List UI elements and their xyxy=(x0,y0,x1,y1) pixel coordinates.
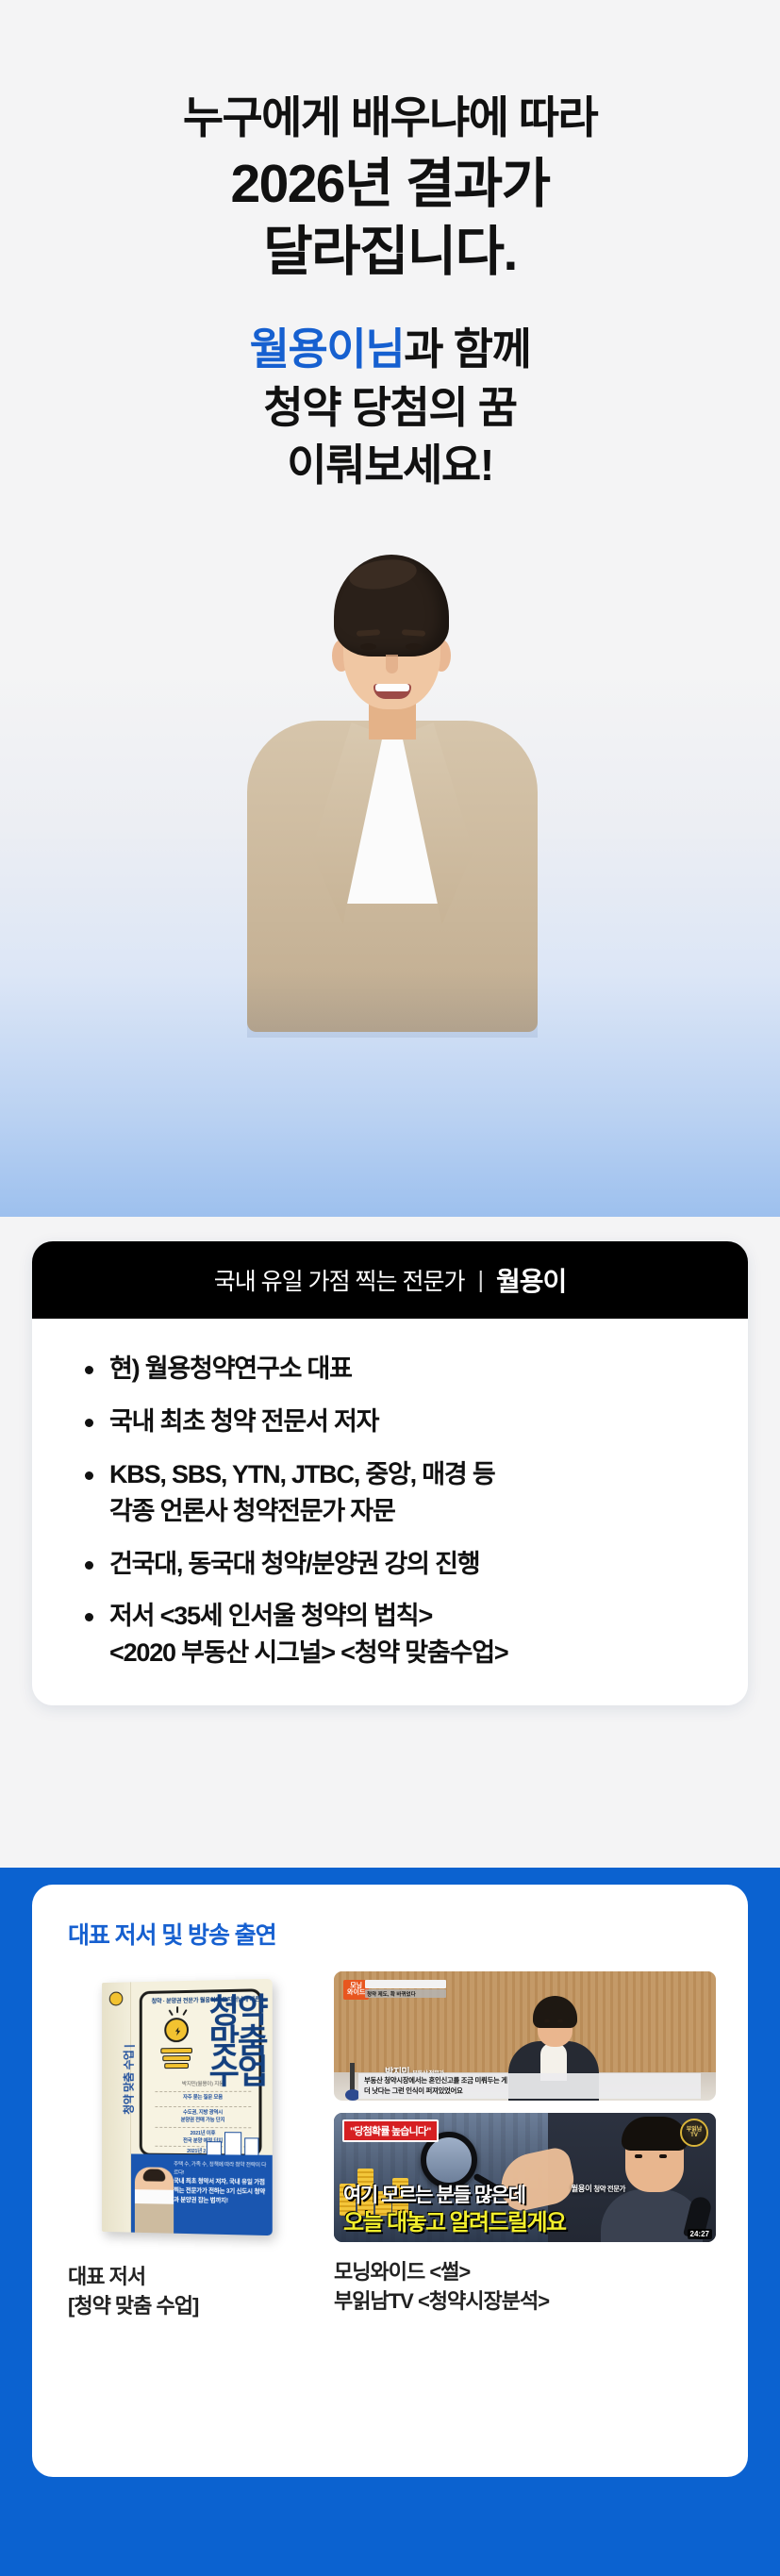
video-caption-line-1: 모닝와이드 <썰> xyxy=(334,2257,716,2286)
portrait-nose xyxy=(386,655,398,673)
credential-text: 건국대, 동국대 청약/분양권 강의 진행 xyxy=(109,1550,479,1578)
video-thumbnail-morning-wide[interactable]: 모닝 와이드 청약 제도, 확 바뀌었다 박지민부동산 전문가 부동산 청약시 xyxy=(334,1971,716,2101)
video1-eye-left xyxy=(544,2019,550,2022)
instructor-name-accent: 월용이님 xyxy=(250,324,405,374)
list-item: 건국대, 동국대 청약/분양권 강의 진행 xyxy=(85,1546,748,1583)
lightbulb-icon xyxy=(164,2018,189,2042)
instructor-profile-card: 국내 유일 가점 찍는 전문가 | 월용이 현) 월용청약연구소 대표 국내 최… xyxy=(32,1241,748,1705)
video2-speaker-role: 청약 전문가 xyxy=(593,2185,625,2193)
book-cover-image: 청약 맞춤 수업 | 청약 · 분양권 전문가 월용이의 토지서남에 따른 박지… xyxy=(68,1971,311,2247)
list-item: KBS, SBS, YTN, JTBC, 중앙, 매경 등 각종 언론사 청약전… xyxy=(85,1456,748,1530)
book-cover-band: 주택 수, 가족 수, 정책에 따라 청약 전략이 다르다! 국내 최초 청약서… xyxy=(131,2153,273,2235)
video1-headline-bar-text: 청약 제도, 확 바뀌었다 xyxy=(365,1989,446,1998)
book-caption-line-1: 대표 저서 xyxy=(68,2262,311,2291)
profile-header-prefix: 국내 유일 가점 찍는 전문가 xyxy=(214,1263,465,1297)
media-card-title: 대표 저서 및 방송 출연 xyxy=(68,1917,712,1951)
credential-text: KBS, SBS, YTN, JTBC, 중앙, 매경 등 xyxy=(109,1460,494,1488)
video-caption: 모닝와이드 <썰> 부읽남TV <청약시장분석> xyxy=(334,2257,716,2316)
video1-eye-right xyxy=(557,2019,563,2022)
video-caption-line-2: 부읽남TV <청약시장분석> xyxy=(334,2286,716,2316)
subheadline-line-1: 월용이님과 함께 xyxy=(0,321,780,379)
video1-subtitle-line-2: 더 낫다는 그런 인식이 퍼져있었어요 xyxy=(364,2086,695,2096)
page-subheadline: 월용이님과 함께 청약 당첨의 꿈 이뤄보세요! xyxy=(0,321,780,495)
video2-title-yellow: 오늘 대놓고 알려드릴게요 xyxy=(343,2203,565,2236)
profile-card-header: 국내 유일 가점 찍는 전문가 | 월용이 xyxy=(32,1241,748,1319)
divider xyxy=(155,2106,251,2107)
headline-line-2: 2026년 결과가 xyxy=(0,152,780,218)
book-author-photo xyxy=(135,2167,174,2233)
bulb-ray-icon xyxy=(176,2006,178,2013)
video1-subtitle: 부동산 청약시장에서는 혼인신고를 조금 미뤄두는 게 더 낫다는 그런 인식이… xyxy=(358,2073,701,2099)
video-thumbnail-builknam-tv[interactable]: "당첨확률 높습니다" 월용이 청약 전문가 여기 모르는 분들 많은데 오늘 … xyxy=(334,2113,716,2242)
credential-text-continued: 각종 언론사 청약전문가 자문 xyxy=(109,1493,748,1530)
credential-text: 현) 월용청약연구소 대표 xyxy=(109,1354,352,1383)
book-band-small: 주택 수, 가족 수, 정책에 따라 청약 전략이 다르다! xyxy=(174,2161,269,2179)
book-band-text: 주택 수, 가족 수, 정책에 따라 청약 전략이 다르다! 국내 최초 청약서… xyxy=(174,2161,269,2207)
profile-card-body: 현) 월용청약연구소 대표 국내 최초 청약 전문서 저자 KBS, SBS, … xyxy=(32,1319,748,1705)
portrait-eye-left xyxy=(360,643,376,650)
video2-duration-badge: 24:27 xyxy=(688,2229,712,2239)
video2-red-banner: "당첨확률 높습니다" xyxy=(342,2119,439,2142)
credential-text: 저서 <35세 인서울 청약의 법칙> xyxy=(109,1602,432,1630)
video2-speaker-hair xyxy=(622,2117,688,2151)
portrait-hair xyxy=(334,555,449,656)
book-cover-item: 수도권, 지방 광역시 분양권 전매 가능 단지 xyxy=(142,2110,265,2125)
list-item: 현) 월용청약연구소 대표 xyxy=(85,1351,748,1388)
profile-header-name: 월용이 xyxy=(496,1261,566,1299)
builknam-tv-logo-icon: 부읽남 TV xyxy=(680,2119,708,2147)
book-caption: 대표 저서 [청약 맞춤 수업] xyxy=(68,2262,311,2320)
book-cover-item: 자주 묻는 질문 모음 xyxy=(142,2095,265,2102)
logo-line-2: TV xyxy=(690,2133,698,2138)
credential-text-continued: <2020 부동산 시그널> <청약 맞춤수업> xyxy=(109,1635,748,1671)
divider xyxy=(155,2091,251,2092)
headline-line-3: 달라집니다. xyxy=(0,220,780,286)
video2-eye-left xyxy=(635,2154,642,2158)
credentials-list: 현) 월용청약연구소 대표 국내 최초 청약 전문서 저자 KBS, SBS, … xyxy=(32,1351,748,1671)
media-appearances-card: 대표 저서 및 방송 출연 청약 맞춤 수업 | 청약 · 분양권 전문가 월용… xyxy=(32,1885,748,2477)
video1-headline-bar-bg xyxy=(365,1980,446,1988)
subheadline-line-3: 이뤄보세요! xyxy=(0,437,780,495)
credential-text: 국내 최초 청약 전문서 저자 xyxy=(109,1407,378,1436)
portrait-shadow xyxy=(247,972,538,1038)
list-item: 저서 <35세 인서울 청약의 법칙> <2020 부동산 시그널> <청약 맞… xyxy=(85,1598,748,1671)
subheadline-line-1-rest: 과 함께 xyxy=(404,324,530,374)
book-cover-title: 청약 맞춤 수업 xyxy=(209,1996,267,2088)
profile-header-divider: | xyxy=(478,1267,484,1294)
video1-hair xyxy=(533,1996,577,2028)
portrait-eye-right xyxy=(406,643,422,650)
video2-speaker-label: 월용이 청약 전문가 xyxy=(571,2183,625,2194)
video2-speaker-name: 월용이 xyxy=(571,2184,591,2193)
coins-stack-icon xyxy=(160,2048,194,2072)
instructor-portrait-image xyxy=(0,528,780,1217)
media-grid: 청약 맞춤 수업 | 청약 · 분양권 전문가 월용이의 토지서남에 따른 박지… xyxy=(68,1971,712,2320)
video-column: 모닝 와이드 청약 제도, 확 바뀌었다 박지민부동산 전문가 부동산 청약시 xyxy=(334,1971,716,2320)
hero-section: 누구에게 배우냐에 따라 2026년 결과가 달라집니다. 월용이님과 함께 청… xyxy=(0,0,780,1217)
book-spine: 청약 맞춤 수업 | xyxy=(102,1982,131,2232)
subheadline-line-2: 청약 당첨의 꿈 xyxy=(0,379,780,438)
page-headline: 누구에게 배우냐에 따라 2026년 결과가 달라집니다. xyxy=(0,91,780,285)
book-column: 청약 맞춤 수업 | 청약 · 분양권 전문가 월용이의 토지서남에 따른 박지… xyxy=(68,1971,311,2320)
video2-eye-right xyxy=(659,2154,667,2158)
video1-subtitle-line-1: 부동산 청약시장에서는 혼인신고를 조금 미뤄두는 게 xyxy=(364,2076,695,2086)
book-title-line-3: 수업 xyxy=(209,2058,267,2089)
bulb-ray-icon xyxy=(168,2009,173,2016)
portrait-mouth xyxy=(373,684,411,699)
headline-line-1: 누구에게 배우냐에 따라 xyxy=(0,91,780,144)
bulb-ray-icon xyxy=(182,2009,187,2016)
book-caption-line-2: [청약 맞춤 수업] xyxy=(68,2291,311,2320)
list-item: 국내 최초 청약 전문서 저자 xyxy=(85,1404,748,1440)
book-3d: 청약 맞춤 수업 | 청약 · 분양권 전문가 월용이의 토지서남에 따른 박지… xyxy=(102,1979,273,2235)
book-band-line-1: 국내 최초 청약서 저자, xyxy=(174,2178,227,2185)
